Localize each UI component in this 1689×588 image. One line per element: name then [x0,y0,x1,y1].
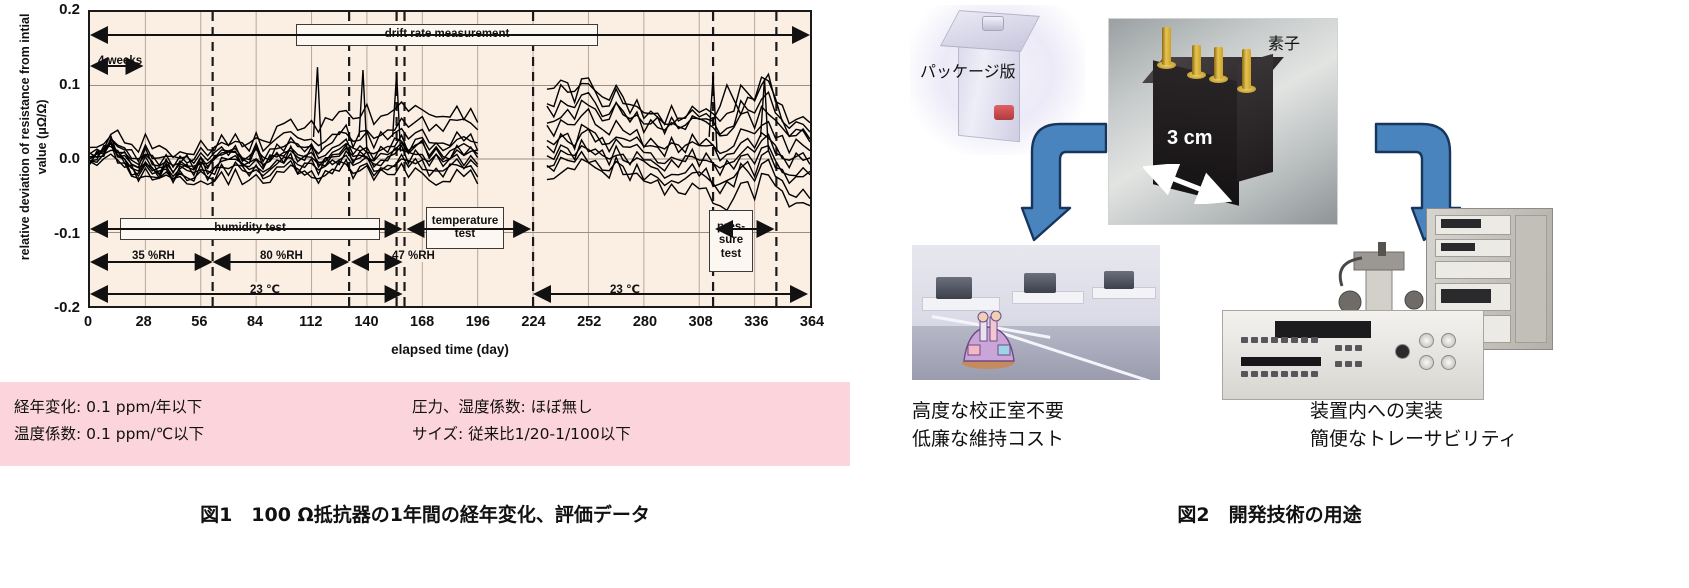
package-version-label: パッケージ版 [920,58,1016,82]
y-tick--0_1: -0.1 [34,226,80,241]
bench-knob-5 [1395,344,1410,359]
calroom-desk-1 [922,297,1000,311]
bench-knob-2 [1441,333,1456,348]
x-tick-112: 112 [299,314,322,330]
x-tick-140: 140 [354,314,378,330]
calibration-room-illustration [912,245,1160,380]
element-dimension-arrow [1143,164,1233,204]
rack-side-panel [1515,215,1547,343]
annotation-temperature-test: temperature test [426,207,504,249]
x-tick-252: 252 [577,314,601,330]
x-tick-364: 364 [800,314,824,330]
resistor-element-photo: 3 cm [1108,18,1338,225]
benchtop-instrument-photo [1222,310,1484,400]
series-R10 [547,92,810,142]
right-benefit-line-2: 簡便なトレーサビリティ [1310,426,1517,454]
element-size-label: 3 cm [1167,127,1213,150]
calroom-monitor-2 [1024,273,1056,293]
chart-series-lines [90,12,810,306]
y-tick--0_2: -0.2 [34,300,80,315]
bench-button-row-3 [1335,345,1362,351]
x-axis-tick-labels: 0285684112140168196224252280308336364 [88,314,812,336]
left-benefit-text: 高度な校正室不要 低廉な維持コスト [912,398,1064,453]
bench-button-row-2 [1241,371,1318,377]
y-tick-0_1: 0.1 [34,77,80,92]
rack-display-2 [1441,243,1475,251]
summary-line-size: サイズ: 従来比1/20-1/100以下 [412,421,631,448]
calroom-monitor-1 [936,277,972,299]
summary-left-column: 経年変化: 0.1 ppm/年以下 温度係数: 0.1 ppm/℃以下 [14,394,204,448]
right-benefit-text: 装置内への実装 簡便なトレーサビリティ [1310,398,1517,453]
calroom-monitor-3 [1104,271,1134,289]
x-tick-196: 196 [466,314,490,330]
x-tick-308: 308 [689,314,713,330]
summary-spec-box: 経年変化: 0.1 ppm/年以下 温度係数: 0.1 ppm/℃以下 圧力、湿… [0,382,850,466]
summary-line-tempcoef: 温度係数: 0.1 ppm/℃以下 [14,421,204,448]
series-spike-115 [314,67,322,152]
annotation-humidity-test: humidity test [120,218,380,240]
annotation-80-rh: 80 %RH [258,250,305,262]
rack-display-1 [1441,219,1481,228]
x-axis-title: elapsed time (day) [88,342,812,357]
bench-label-strip [1241,357,1321,366]
x-tick-84: 84 [247,314,263,330]
annotation-23c-right: 23 ℃ [608,282,642,296]
gold-pin-4 [1242,49,1251,89]
bench-knob-4 [1441,355,1456,370]
bench-display [1275,321,1371,338]
gold-pin-1 [1162,27,1171,65]
x-tick-28: 28 [136,314,152,330]
package-knob [982,16,1004,31]
summary-line-aging: 経年変化: 0.1 ppm/年以下 [14,394,204,421]
annotation-pressure-line2: sure [719,234,743,247]
x-tick-336: 336 [744,314,768,330]
x-tick-56: 56 [191,314,207,330]
y-axis-tick-labels: -0.2-0.10.00.10.2 [28,0,80,318]
series-R10 [90,154,478,185]
annotation-pressure-line1: pres- [717,221,745,234]
x-tick-280: 280 [633,314,657,330]
summary-right-column: 圧力、湿度係数: ほぼ無し サイズ: 従来比1/20-1/100以下 [412,394,631,448]
annotation-temperature-line2: test [455,228,475,241]
x-tick-168: 168 [410,314,434,330]
annotation-pressure-line3: test [721,248,741,261]
bench-knob-1 [1419,333,1434,348]
rack-slot-3 [1435,261,1511,279]
x-tick-224: 224 [521,314,545,330]
annotation-4-weeks: 4 weeks [96,55,144,67]
calroom-person [958,311,1020,369]
annotation-35-rh: 35 %RH [130,250,177,262]
left-benefit-line-1: 高度な校正室不要 [912,398,1064,426]
left-blue-arrow [1010,112,1122,242]
rack-display-3 [1441,289,1491,303]
y-tick-0: 0.0 [34,151,80,166]
summary-line-pressure-humidity: 圧力、湿度係数: ほぼ無し [412,394,631,421]
annotation-temperature-line1: temperature [432,215,498,228]
left-benefit-line-2: 低廉な維持コスト [912,426,1064,454]
gold-pin-2 [1192,45,1201,75]
right-benefit-line-1: 装置内への実装 [1310,398,1517,426]
gold-pin-3 [1214,47,1223,79]
y-tick-0_2: 0.2 [34,2,80,17]
figure-1-caption: 図1 100 Ω抵抗器の1年間の経年変化、評価データ [0,500,850,527]
bench-knob-3 [1419,355,1434,370]
figure-2-caption: 図2 開発技術の用途 [850,500,1689,527]
x-tick-0: 0 [84,314,92,330]
annotation-23c-left: 23 ℃ [248,282,282,296]
figure-1-panel: relative deviation of resistance from in… [0,0,850,588]
element-label: 素子 [1268,30,1300,54]
annotation-drift-rate-measurement: drift rate measurement [296,24,598,46]
figure-2-panel: パッケージ版 3 cm 素子 [850,0,1689,588]
bench-button-row-1 [1241,337,1318,343]
annotation-pressure-test: pres- sure test [709,210,753,272]
annotation-47-rh: 47 %RH [390,250,437,262]
bench-button-row-4 [1335,361,1362,367]
chart-plot-area: drift rate measurement 4 weeks humidity … [88,10,812,308]
